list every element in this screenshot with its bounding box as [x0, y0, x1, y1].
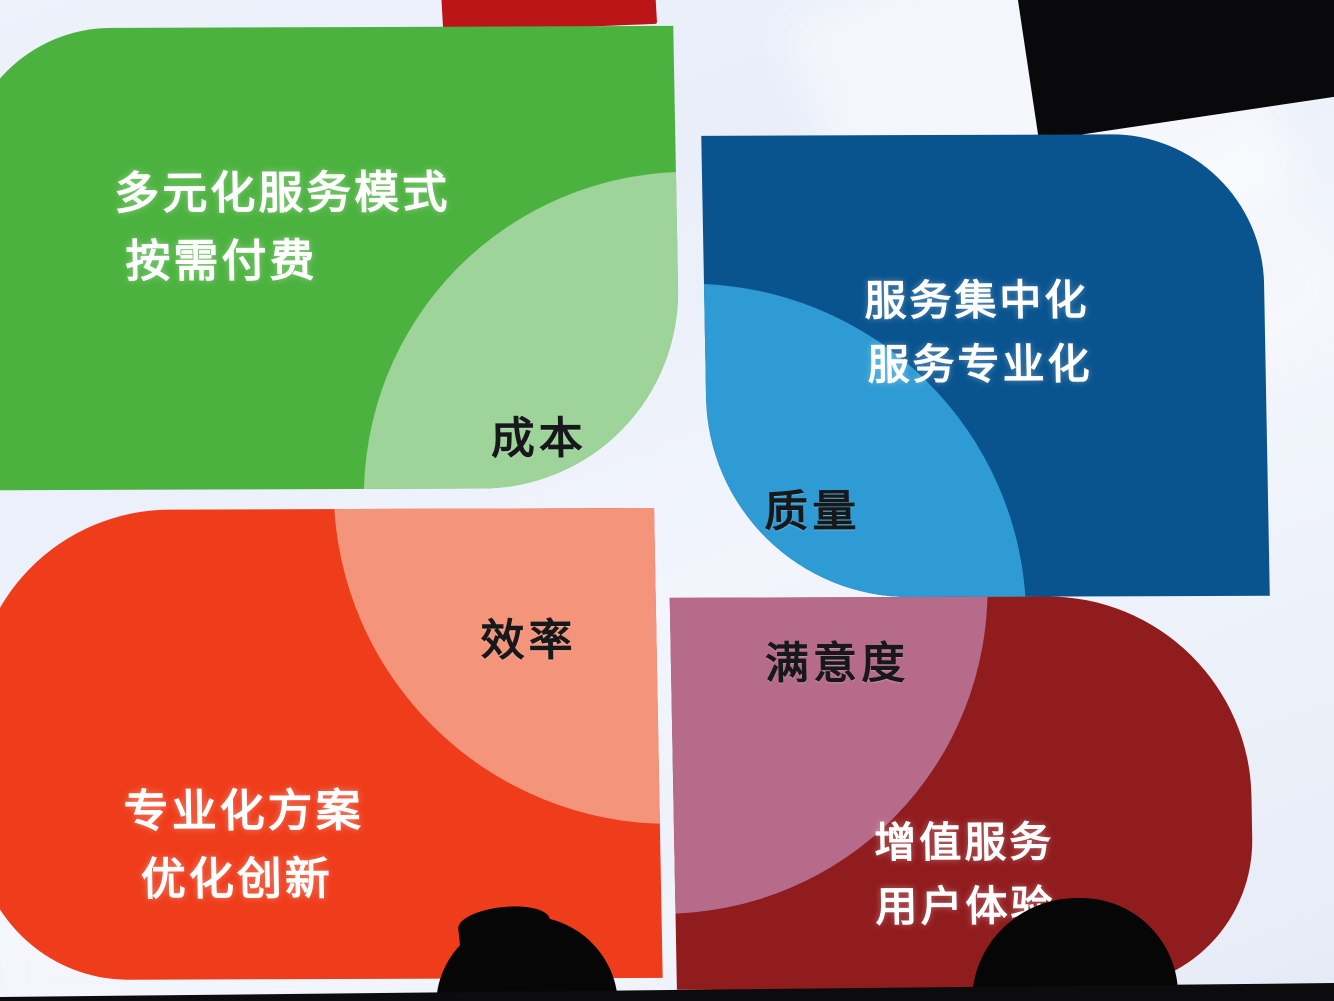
quadrant-satisfaction-tag: 满意度 [764, 627, 909, 691]
quadrant-satisfaction-line-1: 增值服务 [874, 811, 1055, 875]
quadrant-quality-tag: 质量 [764, 475, 861, 539]
four-quadrant-diagram: 多元化服务模式 按需付费 成本 服务集中化 服务专业化 质量 专业化方案 优化创… [0, 12, 1301, 996]
presentation-photo: 多元化服务模式 按需付费 成本 服务集中化 服务专业化 质量 专业化方案 优化创… [0, 0, 1334, 1001]
quadrant-quality-line-1: 服务集中化 [864, 268, 1092, 333]
quadrant-efficiency-line-2: 优化创新 [140, 845, 365, 914]
quadrant-cost-line-1: 多元化服务模式 [114, 159, 451, 229]
quadrant-cost-line-2: 按需付费 [125, 227, 452, 297]
quadrant-cost-tag: 成本 [490, 402, 587, 466]
quadrant-quality[interactable]: 服务集中化 服务专业化 质量 [701, 134, 1270, 598]
quadrant-cost[interactable]: 多元化服务模式 按需付费 成本 [0, 26, 682, 490]
quadrant-quality-text: 服务集中化 服务专业化 [864, 268, 1093, 396]
quadrant-cost-text: 多元化服务模式 按需付费 [114, 159, 453, 297]
quadrant-satisfaction[interactable]: 增值服务 用户体验 满意度 [670, 596, 1255, 990]
quadrant-efficiency-text: 专业化方案 优化创新 [123, 777, 366, 915]
quadrant-efficiency[interactable]: 专业化方案 优化创新 效率 [0, 508, 663, 980]
quadrant-efficiency-line-1: 专业化方案 [123, 777, 364, 846]
quadrant-quality-line-2: 服务专业化 [867, 332, 1093, 397]
quadrant-efficiency-tag: 效率 [480, 604, 577, 668]
